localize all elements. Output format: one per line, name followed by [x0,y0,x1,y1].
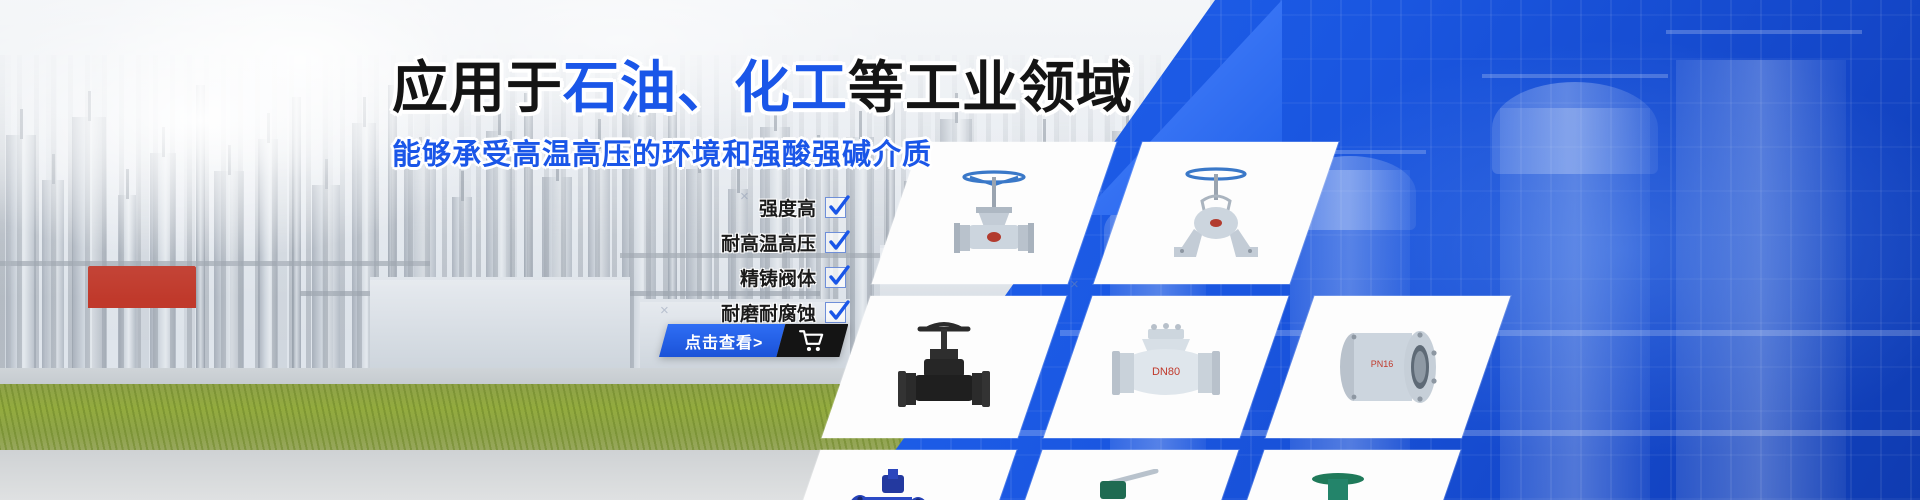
feature-label: 耐高温高压 [721,229,816,256]
diaphragm-valve-green-icon [1240,450,1436,500]
checkmark-icon [825,267,846,288]
decor-x-icon: × [660,302,669,319]
svg-text:PN16: PN16 [1371,359,1394,369]
feature-item: 精铸阀体 [740,264,846,291]
forged-steel-gate-valve-icon [846,296,1042,438]
product-tile[interactable] [1094,142,1339,284]
feature-label: 耐磨耐腐蚀 [721,299,816,326]
headline-part1: 应用于 [392,56,563,119]
product-tile[interactable] [822,296,1067,438]
checkmark-icon [825,302,846,323]
svg-text:DN80: DN80 [1152,366,1180,378]
flanged-check-valve-icon: PN16 [1290,296,1486,438]
feature-label: 强度高 [759,194,816,221]
subtitle: 能够承受高温高压的环境和强酸强碱介质 [392,131,1092,173]
feature-item: 耐磨耐腐蚀 [721,299,846,326]
feature-item: 强度高 [759,194,846,221]
swing-check-valve-icon: DN80 [1068,296,1264,438]
headline-block: 应用于石油、化工等工业领域 能够承受高温高压的环境和强酸强碱介质 [392,58,1092,173]
headline-highlight: 石油、化工 [563,56,848,119]
product-tile[interactable]: DN80 [1044,296,1289,438]
globe-valve-flanged-icon [1118,142,1314,284]
feature-checklist: 强度高 耐高温高压 精铸阀体 耐磨耐腐蚀 [686,194,846,326]
product-tile[interactable]: PN16 [1266,296,1511,438]
lined-ball-valve-green-icon [1018,450,1214,500]
cta-button-group[interactable]: 点击查看> [659,324,848,357]
checkmark-icon [825,197,846,218]
feature-label: 精铸阀体 [740,264,816,291]
page-title: 应用于石油、化工等工业领域 [392,58,1092,117]
shopping-cart-icon [799,329,825,353]
product-tile[interactable] [1216,450,1461,500]
view-details-button[interactable]: 点击查看> [659,324,785,357]
product-tile[interactable] [994,450,1239,500]
feature-item: 耐高温高压 [721,229,846,256]
lined-ball-valve-blue-icon [796,450,992,500]
checkmark-icon [825,232,846,253]
cart-button[interactable] [776,324,848,357]
headline-part2: 等工业领域 [848,56,1133,119]
promo-banner: 应用于石油、化工等工业领域 能够承受高温高压的环境和强酸强碱介质 强度高 耐高温… [0,0,1920,500]
